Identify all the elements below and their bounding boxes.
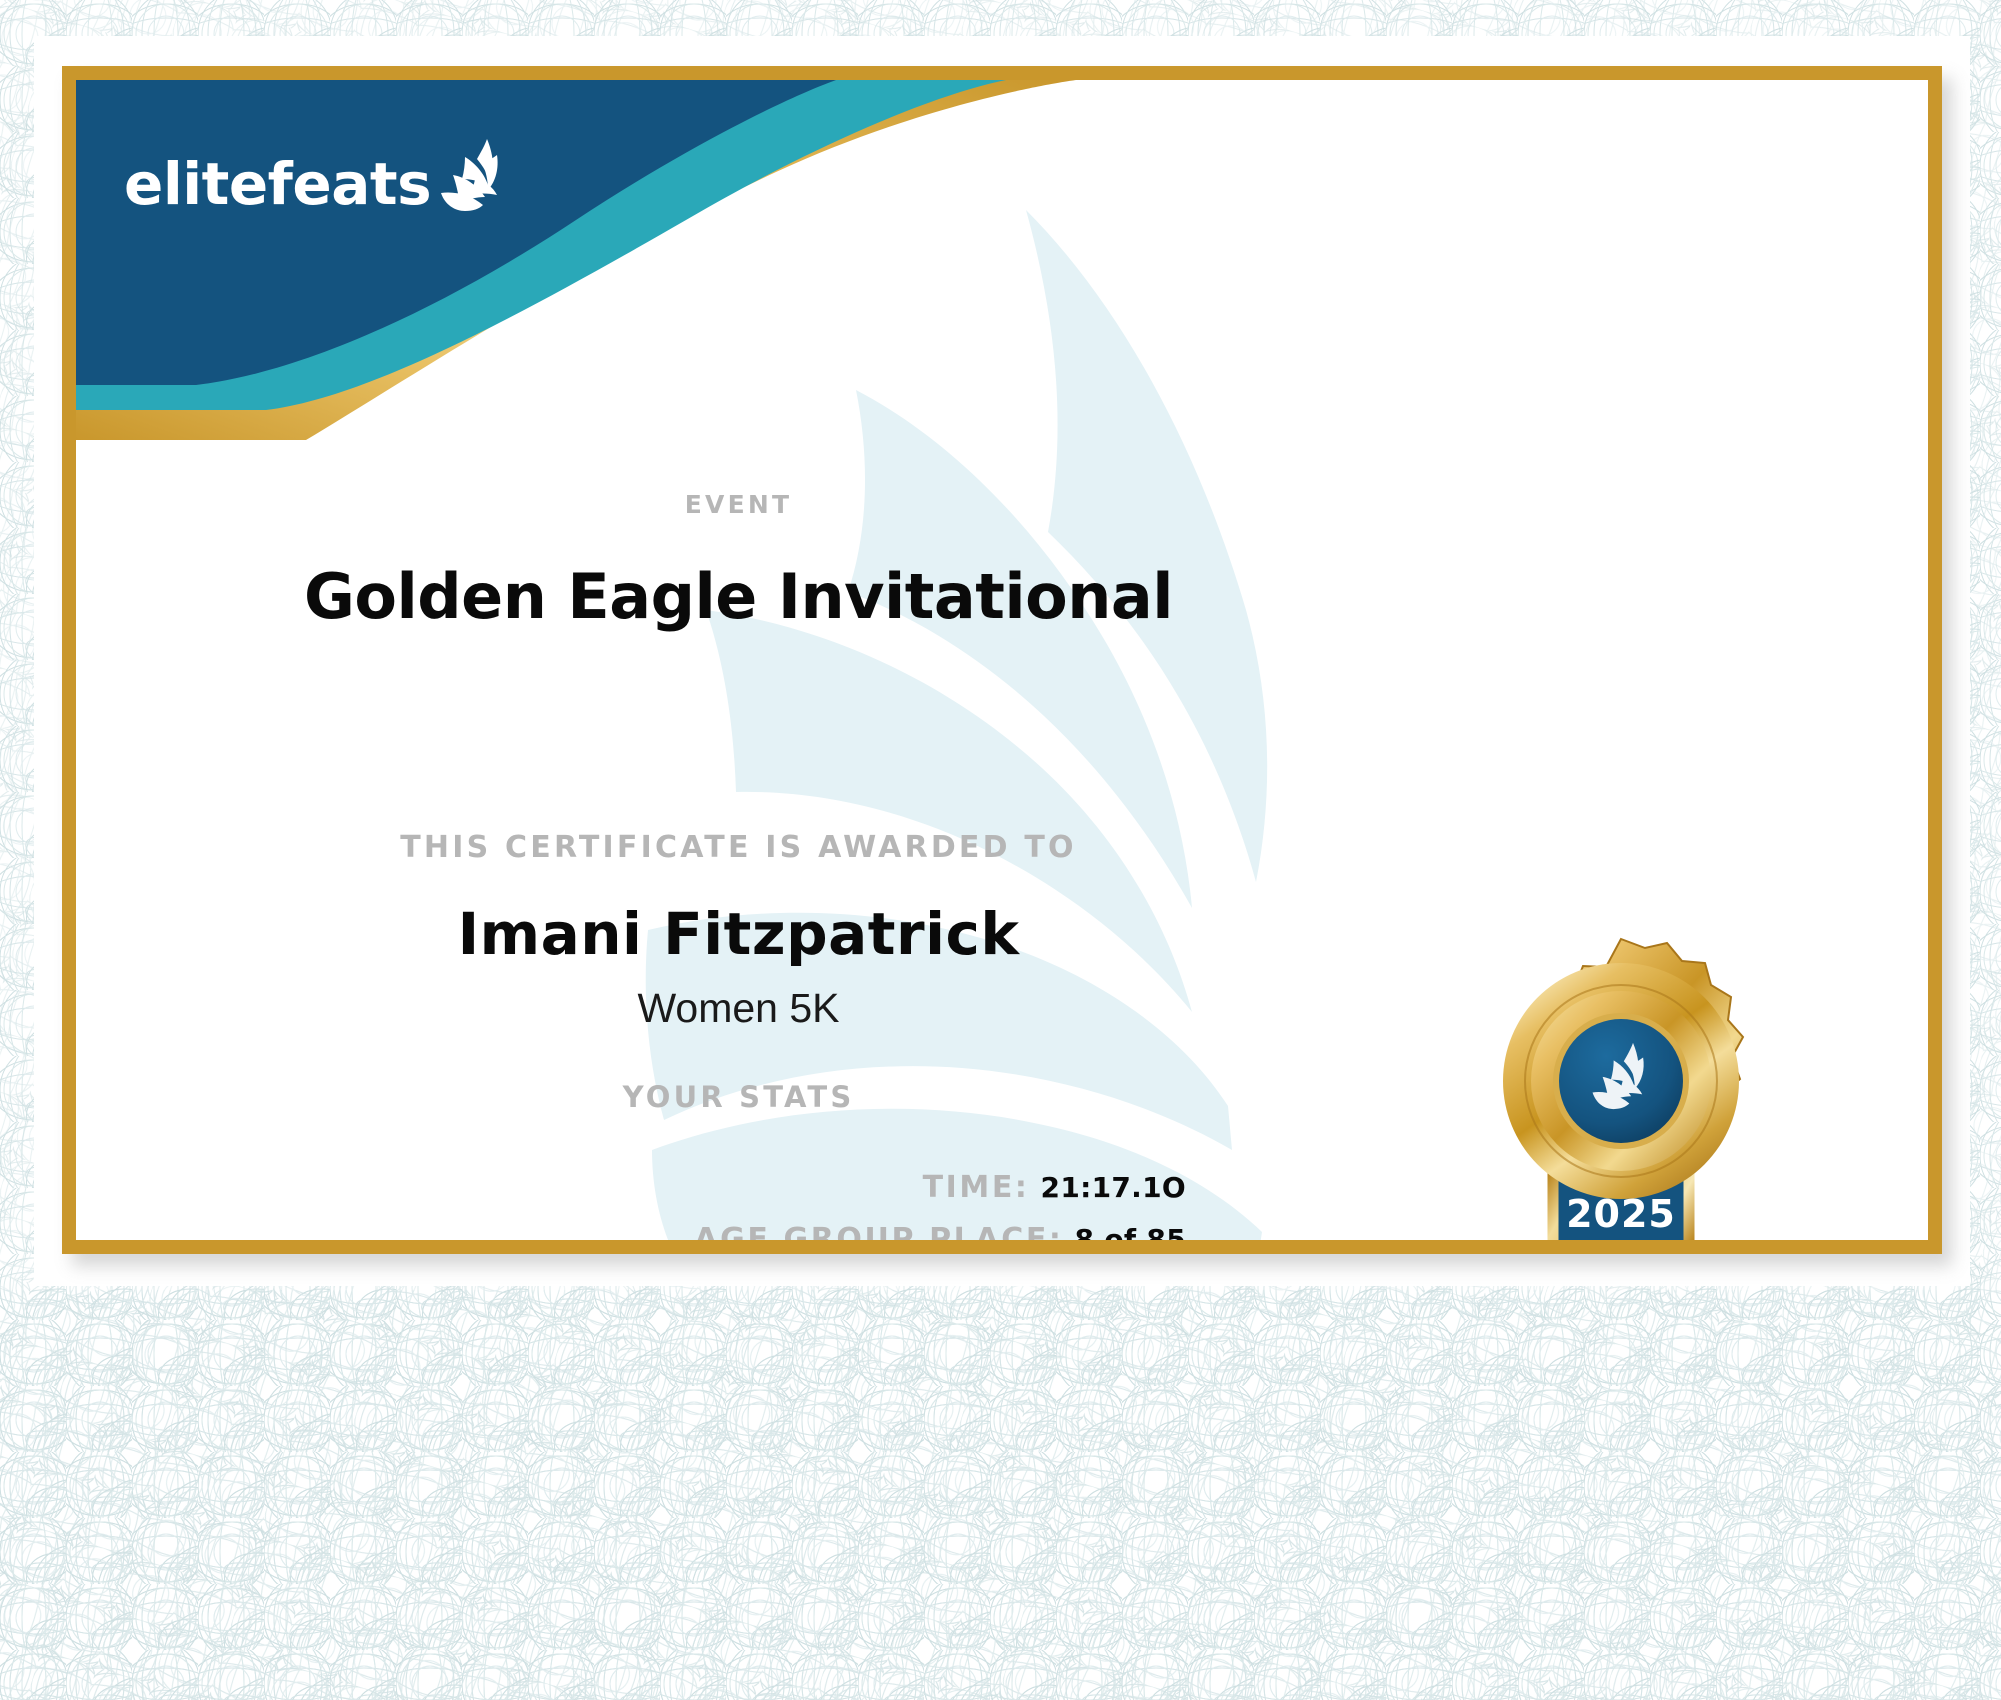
certificate-frame: elitefeats EVENT Golden Eagle Invitation…	[62, 66, 1942, 1254]
awarded-to-label: THIS CERTIFICATE IS AWARDED TO	[76, 830, 1401, 865]
logo-wordmark: elitefeats	[124, 155, 431, 213]
stat-key: TIME:	[923, 1170, 1030, 1205]
winged-foot-icon	[435, 135, 505, 213]
stat-key: AGE GROUP PLACE:	[694, 1222, 1063, 1240]
certificate-page: elitefeats EVENT Golden Eagle Invitation…	[0, 0, 2001, 1700]
stat-row-age-group-place: AGE GROUP PLACE: 8 of 85	[76, 1222, 1186, 1240]
your-stats-label: YOUR STATS	[76, 1080, 1401, 1114]
stat-row-time: TIME: 21:17.1O	[76, 1170, 1186, 1205]
elitefeats-logo: elitefeats	[124, 135, 505, 213]
recipient-name: Imani Fitzpatrick	[76, 900, 1401, 968]
event-name: Golden Eagle Invitational	[76, 560, 1401, 633]
finisher-medal-badge: 2025 FINISHER CERTIFICATE	[1421, 935, 1821, 1240]
event-label: EVENT	[76, 490, 1401, 519]
division-label: Women 5K	[76, 985, 1401, 1032]
stat-value: 21:17.1O	[1041, 1171, 1186, 1204]
stat-value: 8 of 85	[1075, 1223, 1186, 1240]
badge-year: 2025	[1566, 1192, 1676, 1236]
certificate-canvas: elitefeats EVENT Golden Eagle Invitation…	[76, 80, 1928, 1240]
stats-list: TIME: 21:17.1O AGE GROUP PLACE: 8 of 85 …	[76, 1170, 1186, 1240]
gold-medal-rosette-icon: 2025	[1477, 935, 1765, 1240]
